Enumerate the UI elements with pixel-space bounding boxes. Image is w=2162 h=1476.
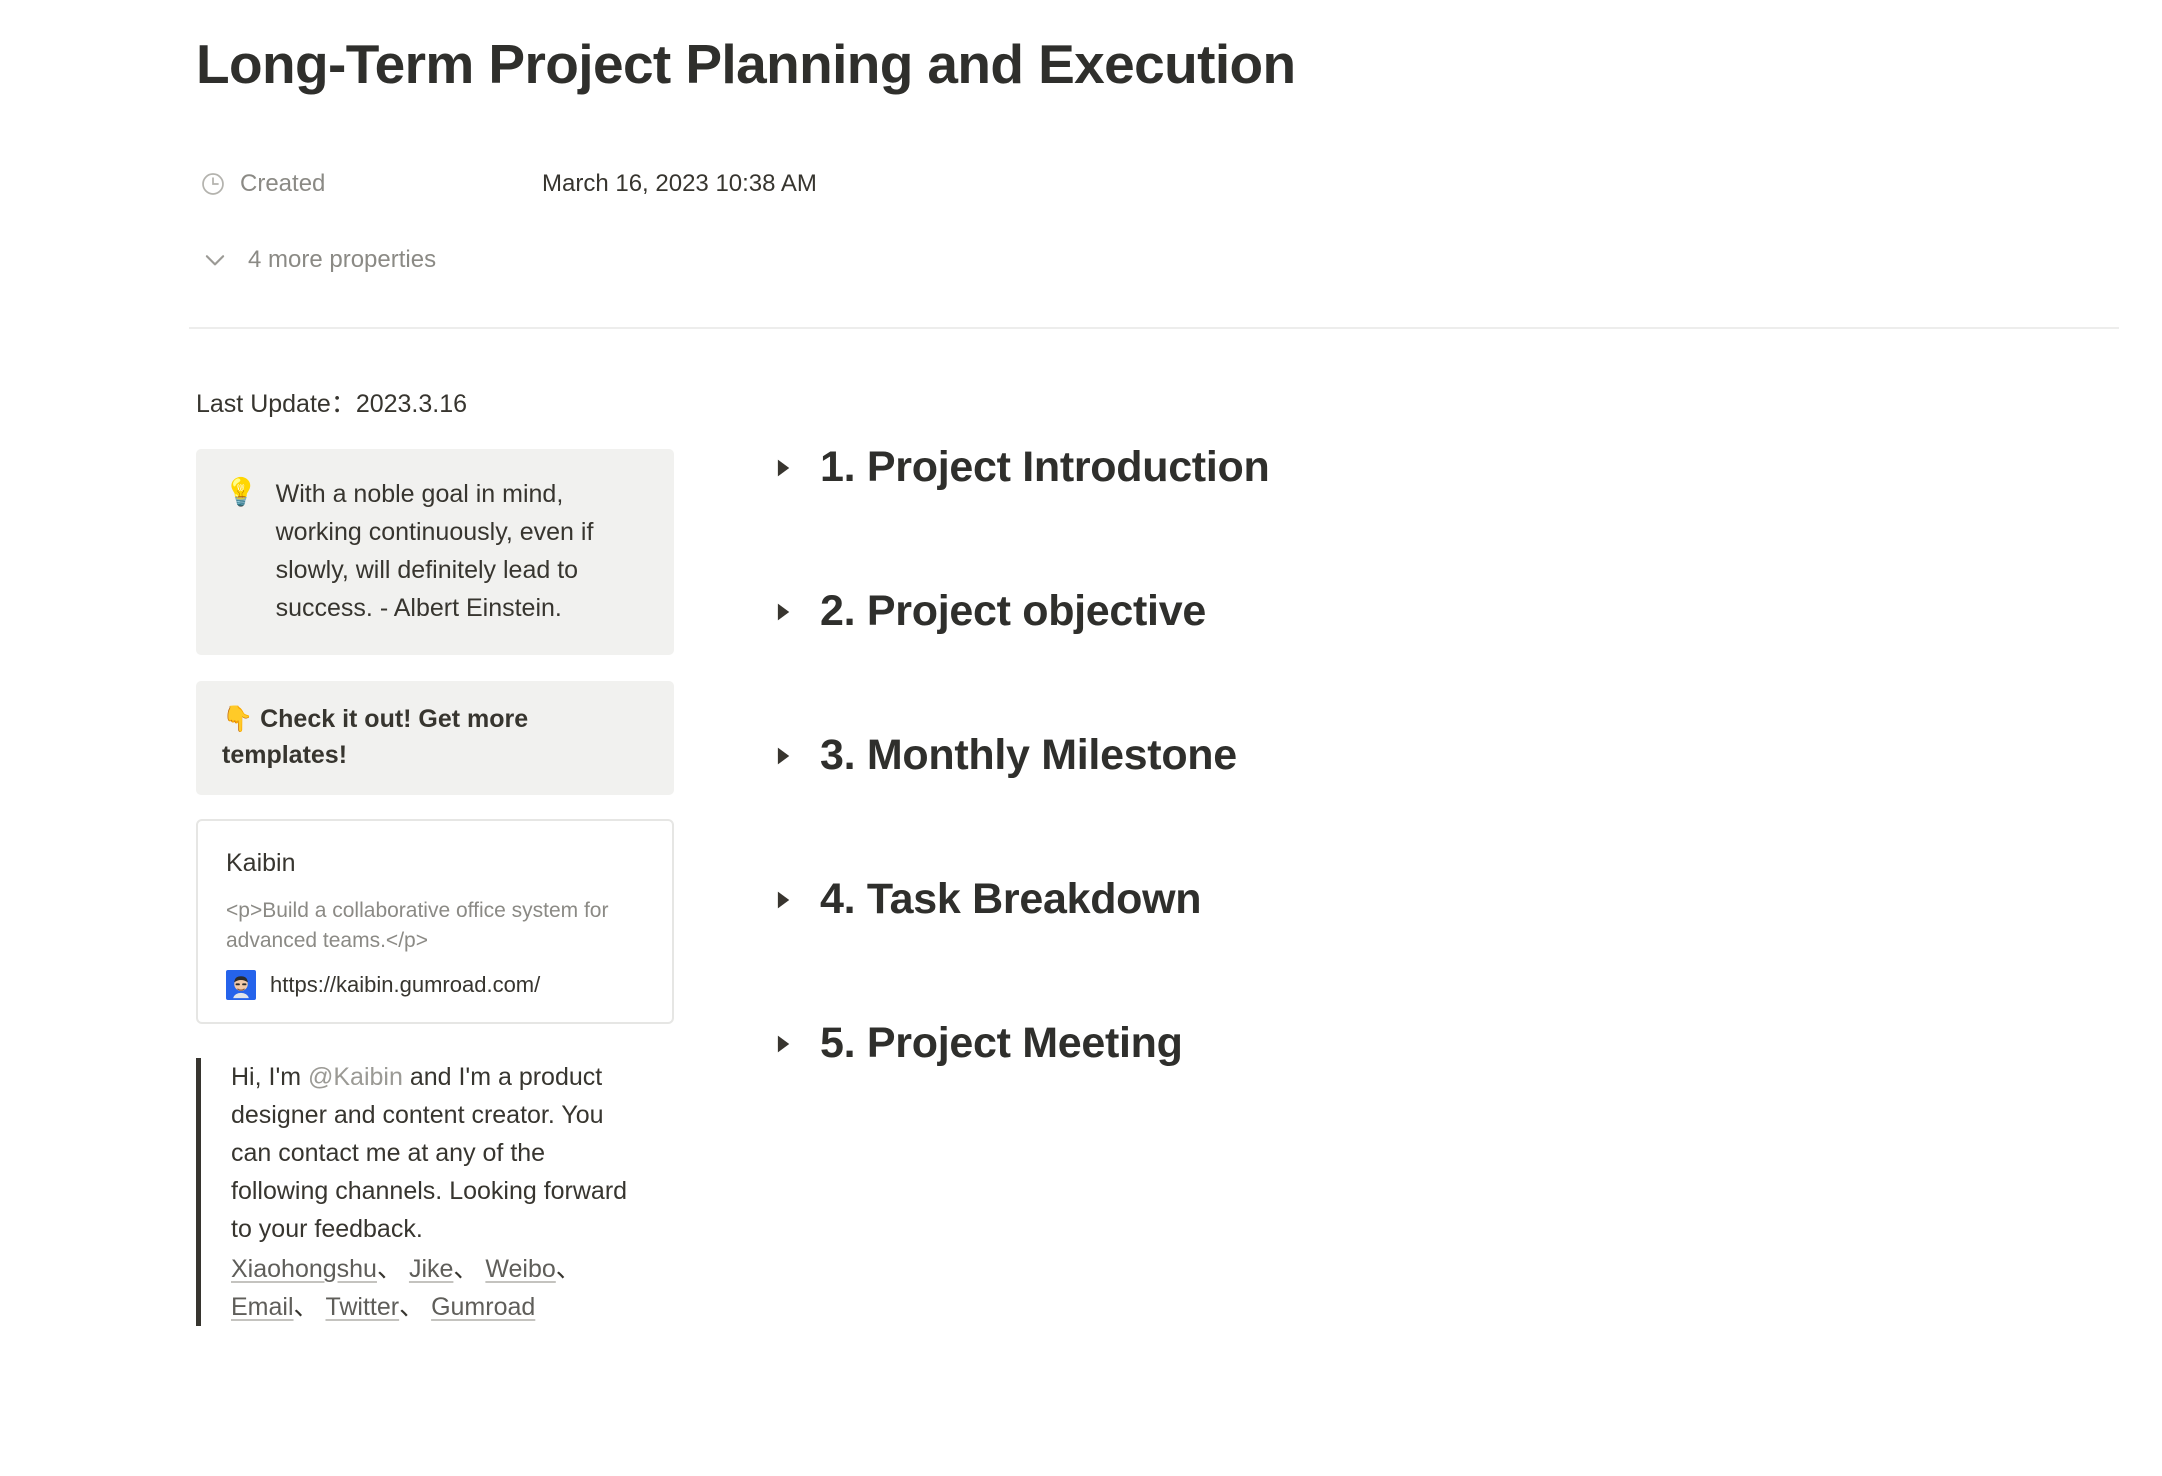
link-separator: 、 — [377, 1255, 402, 1283]
link-separator: 、 — [399, 1293, 424, 1321]
templates-callout-text: Check it out! Get more templates! — [222, 705, 528, 769]
toggle-heading-label: 2. Project objective — [820, 588, 1206, 635]
user-mention[interactable]: @Kaibin — [308, 1063, 403, 1091]
toggle-heading-label: 5. Project Meeting — [820, 1020, 1183, 1067]
toggle-heading-project-meeting[interactable]: 5. Project Meeting — [772, 1014, 1872, 1074]
triangle-right-icon[interactable] — [772, 601, 794, 623]
page-title: Long-Term Project Planning and Execution — [196, 34, 1296, 95]
triangle-right-icon[interactable] — [772, 889, 794, 911]
down-pointing-finger-emoji: 👇 — [222, 704, 253, 733]
quote-callout-text: With a noble goal in mind, working conti… — [276, 475, 644, 627]
bookmark-card[interactable]: Kaibin <p>Build a collaborative office s… — [196, 819, 674, 1024]
toggle-heading-monthly-milestone[interactable]: 3. Monthly Milestone — [772, 726, 1872, 786]
more-properties-label: 4 more properties — [248, 248, 436, 272]
avatar-favicon — [226, 970, 256, 1000]
notion-page: Long-Term Project Planning and Execution… — [0, 0, 2162, 1476]
link-xiaohongshu[interactable]: Xiaohongshu — [231, 1255, 377, 1283]
social-links-row: Xiaohongshu、 Jike、 Weibo、 Email、 Twitter… — [231, 1250, 648, 1326]
bookmark-url-row: https://kaibin.gumroad.com/ — [226, 970, 644, 1000]
more-properties-toggle[interactable]: 4 more properties — [200, 243, 436, 277]
toggle-heading-label: 4. Task Breakdown — [820, 876, 1201, 923]
link-weibo[interactable]: Weibo — [485, 1255, 555, 1283]
link-jike[interactable]: Jike — [409, 1255, 453, 1283]
toggle-headings-list: 1. Project Introduction 2. Project objec… — [772, 438, 1872, 1074]
bookmark-title: Kaibin — [226, 847, 644, 880]
blockquote-paragraph: Hi, I'm @Kaibin and I'm a product design… — [231, 1058, 648, 1248]
bookmark-url[interactable]: https://kaibin.gumroad.com/ — [270, 971, 540, 1000]
toggle-heading-label: 3. Monthly Milestone — [820, 732, 1237, 779]
link-gumroad[interactable]: Gumroad — [431, 1293, 535, 1321]
blockquote-intro-before: Hi, I'm — [231, 1063, 308, 1091]
link-separator: 、 — [556, 1255, 581, 1283]
last-update-text: Last Update：2023.3.16 — [196, 388, 676, 421]
templates-callout[interactable]: 👇 Check it out! Get more templates! — [196, 681, 674, 796]
header-divider — [189, 327, 2119, 329]
link-email[interactable]: Email — [231, 1293, 294, 1321]
triangle-right-icon[interactable] — [772, 745, 794, 767]
author-blockquote: Hi, I'm @Kaibin and I'm a product design… — [196, 1058, 648, 1326]
property-row-created[interactable]: Created — [200, 165, 325, 203]
property-value-created[interactable]: March 16, 2023 10:38 AM — [542, 165, 817, 203]
property-label-created: Created — [240, 172, 325, 196]
chevron-down-icon — [200, 245, 230, 275]
light-bulb-emoji: 💡 — [224, 475, 258, 510]
link-separator: 、 — [294, 1293, 319, 1321]
triangle-right-icon[interactable] — [772, 1033, 794, 1055]
toggle-heading-project-introduction[interactable]: 1. Project Introduction — [772, 438, 1872, 498]
link-twitter[interactable]: Twitter — [325, 1293, 399, 1321]
quote-callout[interactable]: 💡 With a noble goal in mind, working con… — [196, 449, 674, 655]
left-content-column: Last Update：2023.3.16 💡 With a noble goa… — [196, 388, 676, 1326]
toggle-heading-project-objective[interactable]: 2. Project objective — [772, 582, 1872, 642]
toggle-heading-label: 1. Project Introduction — [820, 444, 1269, 491]
triangle-right-icon[interactable] — [772, 457, 794, 479]
clock-icon — [200, 171, 226, 197]
link-separator: 、 — [453, 1255, 478, 1283]
bookmark-description: <p>Build a collaborative office system f… — [226, 896, 644, 957]
toggle-heading-task-breakdown[interactable]: 4. Task Breakdown — [772, 870, 1872, 930]
